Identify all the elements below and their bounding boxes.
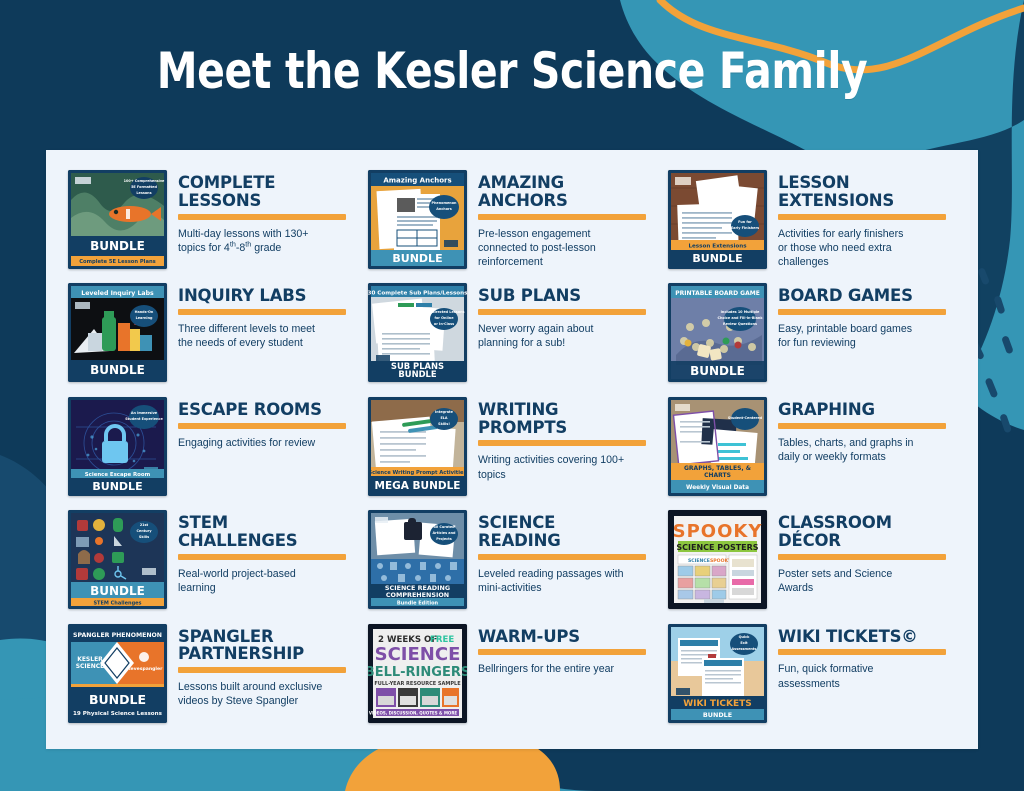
writing-prompts-accent-rule (478, 440, 646, 446)
svg-text:BUNDLE: BUNDLE (90, 584, 145, 598)
svg-text:Choice and Fill-in-Blank: Choice and Fill-in-Blank (717, 316, 763, 320)
svg-text:Bundle Edition: Bundle Edition (397, 601, 439, 607)
spangler-partnership-thumbnail[interactable]: SPANGLER PHENOMENON KESLER SCIENCE steve… (68, 624, 167, 723)
sub-plans-cover-art: 30 Complete Sub Plans/Lessons Self-direc… (368, 283, 467, 382)
svg-text:KESLER: KESLER (77, 656, 103, 663)
science-reading-thumbnail[interactable]: 40 CuratedArticles andProjects SCIENCE R… (368, 510, 467, 609)
svg-text:BUNDLE: BUNDLE (703, 711, 732, 719)
science-reading-title: SCIENCE READING (478, 514, 664, 550)
spangler-partnership-title: SPANGLER PARTNERSHIP (178, 628, 364, 664)
product-card-warm-ups[interactable]: 2 WEEKS OF FREE SCIENCE BELL-RINGERS FUL… (368, 622, 664, 735)
escape-rooms-title: ESCAPE ROOMS (178, 401, 364, 419)
lesson-extensions-cover-art: Fun forEarly Finishers Lesson Extensions… (668, 170, 767, 269)
warm-ups-thumbnail[interactable]: 2 WEEKS OF FREE SCIENCE BELL-RINGERS FUL… (368, 624, 467, 723)
stem-challenges-thumbnail[interactable]: 21stCenturySkills BUNDLE STEM Challenges (68, 510, 167, 609)
svg-text:Complete 5E Lesson Plans: Complete 5E Lesson Plans (79, 259, 155, 265)
product-card-graphing[interactable]: Student-Centered GRAPHS, TABLES, & CHART… (668, 395, 964, 508)
svg-text:BELL-RINGERS: BELL-RINGERS (368, 665, 467, 680)
sub-plans-accent-rule (478, 309, 646, 315)
svg-text:21st: 21st (140, 523, 149, 527)
product-card-writing-prompts[interactable]: IntegrateELASkills! Science Writing Prom… (368, 395, 664, 508)
svg-text:Phenomenon: Phenomenon (432, 201, 458, 205)
svg-text:MEGA BUNDLE: MEGA BUNDLE (375, 480, 461, 492)
svg-text:Fun for: Fun for (738, 220, 752, 224)
svg-text:Leveled Inquiry Labs: Leveled Inquiry Labs (81, 290, 154, 297)
warm-ups-description: Bellringers for the entire year (478, 662, 664, 676)
svg-text:ELA: ELA (440, 416, 447, 420)
board-games-body: BOARD GAMES Easy, printable board gamesf… (778, 283, 964, 350)
graphing-thumbnail[interactable]: Student-Centered GRAPHS, TABLES, & CHART… (668, 397, 767, 496)
classroom-decor-accent-rule (778, 554, 946, 560)
inquiry-labs-title: INQUIRY LABS (178, 287, 364, 305)
lesson-extensions-title: LESSON EXTENSIONS (778, 174, 964, 210)
inquiry-labs-body: INQUIRY LABS Three different levels to m… (178, 283, 364, 350)
product-grid: 100+ Comprehensive5E FormattedLessons BU… (46, 150, 978, 749)
svg-text:SPOOKY: SPOOKY (710, 558, 732, 564)
sub-plans-title: SUB PLANS (478, 287, 664, 305)
svg-text:SPOOKY: SPOOKY (673, 521, 763, 542)
svg-text:PRINTABLE BOARD GAME: PRINTABLE BOARD GAME (675, 290, 760, 297)
svg-text:STEM Challenges: STEM Challenges (93, 601, 141, 607)
svg-text:BUNDLE: BUNDLE (90, 363, 145, 377)
complete-lessons-thumbnail[interactable]: 100+ Comprehensive5E FormattedLessons BU… (68, 170, 167, 269)
svg-text:40 Curated: 40 Curated (433, 525, 455, 529)
classroom-decor-body: CLASSROOM DÉCOR Poster sets and ScienceA… (778, 510, 964, 595)
svg-text:5E Formatted: 5E Formatted (131, 185, 157, 189)
complete-lessons-body: COMPLETE LESSONS Multi-day lessons with … (178, 170, 364, 255)
svg-text:VIDEOS, DISCUSSION, QUOTES & M: VIDEOS, DISCUSSION, QUOTES & MORE (369, 710, 458, 715)
writing-prompts-thumbnail[interactable]: IntegrateELASkills! Science Writing Prom… (368, 397, 467, 496)
svg-text:Science Writing Prompt Activit: Science Writing Prompt Activities (368, 470, 466, 476)
inquiry-labs-accent-rule (178, 309, 346, 315)
svg-text:Student-Centered: Student-Centered (728, 416, 763, 420)
svg-text:Skills!: Skills! (438, 422, 450, 426)
inquiry-labs-thumbnail[interactable]: Leveled Inquiry Labs Hands-OnLearning BU… (68, 283, 167, 382)
svg-text:Self-directed Lessons: Self-directed Lessons (423, 310, 464, 314)
wiki-tickets-accent-rule (778, 649, 946, 655)
amazing-anchors-description: Pre-lesson engagementconnected to post-l… (478, 227, 664, 270)
svg-text:Anchors: Anchors (436, 207, 451, 211)
svg-text:for Online: for Online (435, 316, 455, 320)
svg-text:Hands-On: Hands-On (135, 310, 154, 314)
warm-ups-title: WARM-UPS (478, 628, 664, 646)
page-title: Meet the Kesler Science Family (92, 42, 932, 100)
sub-plans-body: SUB PLANS Never worry again aboutplannin… (478, 283, 664, 350)
svg-text:FULL-YEAR RESOURCE SAMPLE: FULL-YEAR RESOURCE SAMPLE (374, 681, 461, 687)
product-card-complete-lessons[interactable]: 100+ Comprehensive5E FormattedLessons BU… (68, 168, 364, 281)
amazing-anchors-body: AMAZING ANCHORS Pre-lesson engagementcon… (478, 170, 664, 269)
escape-rooms-description: Engaging activities for review (178, 436, 364, 450)
writing-prompts-cover-art: IntegrateELASkills! Science Writing Prom… (368, 397, 467, 496)
product-card-stem-challenges[interactable]: 21stCenturySkills BUNDLE STEM Challenges… (68, 508, 364, 621)
graphing-accent-rule (778, 423, 946, 429)
complete-lessons-title: COMPLETE LESSONS (178, 174, 364, 210)
svg-text:Exit: Exit (740, 641, 748, 645)
graphing-cover-art: Student-Centered GRAPHS, TABLES, & CHART… (668, 397, 767, 496)
svg-text:Amazing Anchors: Amazing Anchors (383, 177, 451, 185)
lesson-extensions-body: LESSON EXTENSIONS Activities for early f… (778, 170, 964, 269)
sub-plans-description: Never worry again aboutplanning for a su… (478, 322, 664, 350)
classroom-decor-cover-art: SPOOKY SCIENCE POSTERS SCIENCE SPOOKY (668, 510, 767, 609)
amazing-anchors-title: AMAZING ANCHORS (478, 174, 664, 210)
lesson-extensions-description: Activities for early finishersor those w… (778, 227, 964, 270)
svg-text:BUNDLE: BUNDLE (398, 369, 436, 379)
classroom-decor-thumbnail[interactable]: SPOOKY SCIENCE POSTERS SCIENCE SPOOKY (668, 510, 767, 609)
lesson-extensions-thumbnail[interactable]: Fun forEarly Finishers Lesson Extensions… (668, 170, 767, 269)
svg-text:or In-Class: or In-Class (434, 322, 454, 326)
board-games-title: BOARD GAMES (778, 287, 964, 305)
svg-text:BUNDLE: BUNDLE (392, 252, 442, 265)
svg-text:Early Finishers: Early Finishers (731, 226, 759, 230)
svg-text:stevespangler: stevespangler (126, 666, 164, 672)
escape-rooms-cover-art: An ImmersiveStudent Experience Science E… (68, 397, 167, 496)
svg-text:BUNDLE: BUNDLE (692, 252, 742, 265)
science-reading-cover-art: 40 CuratedArticles andProjects SCIENCE R… (368, 510, 467, 609)
svg-text:Assessments: Assessments (732, 647, 757, 651)
escape-rooms-accent-rule (178, 423, 346, 429)
product-card-board-games[interactable]: PRINTABLE BOARD GAME Includes 10 Multipl… (668, 281, 964, 394)
svg-text:Review Questions: Review Questions (723, 322, 757, 326)
wiki-tickets-cover-art: QuickExitAssessments WIKI TICKETS BUNDLE (668, 624, 767, 723)
product-card-escape-rooms[interactable]: An ImmersiveStudent Experience Science E… (68, 395, 364, 508)
product-card-sub-plans[interactable]: 30 Complete Sub Plans/Lessons Self-direc… (368, 281, 664, 394)
complete-lessons-cover-art: 100+ Comprehensive5E FormattedLessons BU… (68, 170, 167, 269)
svg-text:30 Complete Sub Plans/Lessons: 30 Complete Sub Plans/Lessons (368, 291, 467, 297)
spangler-partnership-accent-rule (178, 667, 346, 673)
board-games-cover-art: PRINTABLE BOARD GAME Includes 10 Multipl… (668, 283, 767, 382)
svg-text:Century: Century (136, 529, 152, 533)
svg-text:COMPREHENSION: COMPREHENSION (386, 591, 449, 599)
product-card-science-reading[interactable]: 40 CuratedArticles andProjects SCIENCE R… (368, 508, 664, 621)
warm-ups-accent-rule (478, 649, 646, 655)
warm-ups-body: WARM-UPS Bellringers for the entire year (478, 624, 664, 677)
graphing-title: GRAPHING (778, 401, 964, 419)
stem-challenges-accent-rule (178, 554, 346, 560)
svg-text:BUNDLE: BUNDLE (90, 239, 145, 253)
spangler-partnership-cover-art: SPANGLER PHENOMENON KESLER SCIENCE steve… (68, 624, 167, 723)
svg-text:Student Experience: Student Experience (125, 417, 163, 421)
wiki-tickets-description: Fun, quick formativeassessments (778, 662, 964, 690)
svg-text:SCIENCE: SCIENCE (375, 644, 461, 665)
svg-text:Includes 10 Multiple: Includes 10 Multiple (721, 310, 760, 314)
writing-prompts-title: WRITING PROMPTS (478, 401, 664, 437)
svg-text:Quick: Quick (739, 635, 750, 639)
wiki-tickets-body: WIKI TICKETS© Fun, quick formativeassess… (778, 624, 964, 691)
writing-prompts-description: Writing activities covering 100+topics (478, 453, 664, 481)
svg-text:Learning: Learning (136, 316, 153, 320)
science-reading-description: Leveled reading passages withmini-activi… (478, 567, 664, 595)
inquiry-labs-cover-art: Leveled Inquiry Labs Hands-OnLearning BU… (68, 283, 167, 382)
board-games-accent-rule (778, 309, 946, 315)
svg-text:BUNDLE: BUNDLE (690, 364, 745, 378)
svg-text:Integrate: Integrate (435, 410, 454, 414)
svg-text:BUNDLE: BUNDLE (92, 480, 142, 493)
svg-text:An Immersive: An Immersive (131, 411, 158, 415)
product-card-lesson-extensions[interactable]: Fun forEarly Finishers Lesson Extensions… (668, 168, 964, 281)
wiki-tickets-title: WIKI TICKETS© (778, 628, 964, 646)
svg-text:Science Escape Room: Science Escape Room (85, 472, 151, 478)
content-panel: 100+ Comprehensive5E FormattedLessons BU… (46, 150, 978, 749)
sub-plans-thumbnail[interactable]: 30 Complete Sub Plans/Lessons Self-direc… (368, 283, 467, 382)
svg-text:BUNDLE: BUNDLE (89, 692, 146, 707)
svg-text:19 Physical Science Lessons: 19 Physical Science Lessons (73, 711, 163, 717)
writing-prompts-body: WRITING PROMPTS Writing activities cover… (478, 397, 664, 482)
product-card-spangler-partnership[interactable]: SPANGLER PHENOMENON KESLER SCIENCE steve… (68, 622, 364, 735)
svg-text:Lesson Extensions: Lesson Extensions (688, 244, 747, 250)
svg-text:Projects: Projects (436, 537, 452, 541)
product-card-classroom-decor[interactable]: SPOOKY SCIENCE POSTERS SCIENCE SPOOKY (668, 508, 964, 621)
svg-text:Weekly Visual Data: Weekly Visual Data (686, 485, 749, 491)
warm-ups-cover-art: 2 WEEKS OF FREE SCIENCE BELL-RINGERS FUL… (368, 624, 467, 723)
svg-text:SCIENCE POSTERS: SCIENCE POSTERS (676, 543, 758, 552)
svg-text:GRAPHS, TABLES, &: GRAPHS, TABLES, & (684, 465, 751, 472)
product-card-inquiry-labs[interactable]: Leveled Inquiry Labs Hands-OnLearning BU… (68, 281, 364, 394)
svg-text:SCIENCE: SCIENCE (76, 663, 105, 670)
lesson-extensions-accent-rule (778, 214, 946, 220)
classroom-decor-description: Poster sets and ScienceAwards (778, 567, 964, 595)
stem-challenges-description: Real-world project-basedlearning (178, 567, 364, 595)
escape-rooms-thumbnail[interactable]: An ImmersiveStudent Experience Science E… (68, 397, 167, 496)
svg-text:Articles and: Articles and (433, 531, 456, 535)
svg-text:Skills: Skills (139, 535, 149, 539)
amazing-anchors-cover-art: Amazing Anchors PhenomenonAnchors (368, 170, 467, 269)
science-reading-body: SCIENCE READING Leveled reading passages… (478, 510, 664, 595)
svg-text:WIKI TICKETS: WIKI TICKETS (683, 699, 752, 709)
board-games-description: Easy, printable board gamesfor fun revie… (778, 322, 964, 350)
svg-text:SPANGLER PHENOMENON: SPANGLER PHENOMENON (73, 632, 162, 639)
graphing-description: Tables, charts, and graphs indaily or we… (778, 436, 964, 464)
product-card-wiki-tickets[interactable]: QuickExitAssessments WIKI TICKETS BUNDLE… (668, 622, 964, 735)
complete-lessons-description: Multi-day lessons with 130+topics for 4t… (178, 227, 364, 255)
amazing-anchors-accent-rule (478, 214, 646, 220)
board-games-thumbnail[interactable]: PRINTABLE BOARD GAME Includes 10 Multipl… (668, 283, 767, 382)
product-card-amazing-anchors[interactable]: Amazing Anchors PhenomenonAnchors (368, 168, 664, 281)
spangler-partnership-description: Lessons built around exclusivevideos by … (178, 680, 364, 708)
amazing-anchors-thumbnail[interactable]: Amazing Anchors PhenomenonAnchors (368, 170, 467, 269)
graphing-body: GRAPHING Tables, charts, and graphs inda… (778, 397, 964, 464)
escape-rooms-body: ESCAPE ROOMS Engaging activities for rev… (178, 397, 364, 450)
svg-text:CHARTS: CHARTS (704, 472, 731, 479)
svg-text:SCIENCE: SCIENCE (688, 558, 710, 564)
svg-text:100+ Comprehensive: 100+ Comprehensive (124, 179, 165, 183)
classroom-decor-title: CLASSROOM DÉCOR (778, 514, 964, 550)
stem-challenges-cover-art: 21stCenturySkills BUNDLE STEM Challenges (68, 510, 167, 609)
stem-challenges-body: STEM CHALLENGES Real-world project-based… (178, 510, 364, 595)
science-reading-accent-rule (478, 554, 646, 560)
wiki-tickets-thumbnail[interactable]: QuickExitAssessments WIKI TICKETS BUNDLE (668, 624, 767, 723)
stem-challenges-title: STEM CHALLENGES (178, 514, 364, 550)
inquiry-labs-description: Three different levels to meetthe needs … (178, 322, 364, 350)
complete-lessons-accent-rule (178, 214, 346, 220)
svg-text:Lessons: Lessons (136, 191, 151, 195)
spangler-partnership-body: SPANGLER PARTNERSHIP Lessons built aroun… (178, 624, 364, 709)
